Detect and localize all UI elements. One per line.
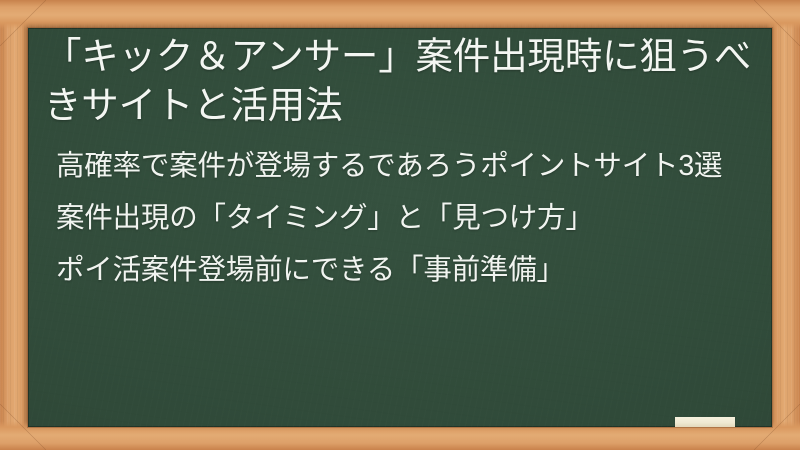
list-item: ポイ活案件登場前にできる「事前準備」 bbox=[56, 251, 754, 289]
chalk-eraser-icon bbox=[675, 417, 735, 427]
list-item: 案件出現の「タイミング」と「見つけ方」 bbox=[56, 199, 754, 237]
heading-list: 高確率で案件が登場するであろうポイントサイト3選 案件出現の「タイミング」と「見… bbox=[44, 147, 754, 289]
chalkboard-eyecatch: 「キック＆アンサー」案件出現時に狙うべきサイトと活用法 高確率で案件が登場するで… bbox=[0, 0, 800, 450]
chalkboard-content: 「キック＆アンサー」案件出現時に狙うべきサイトと活用法 高確率で案件が登場するで… bbox=[28, 28, 772, 427]
page-title: 「キック＆アンサー」案件出現時に狙うべきサイトと活用法 bbox=[44, 32, 754, 130]
chalkboard-surface: 「キック＆アンサー」案件出現時に狙うべきサイトと活用法 高確率で案件が登場するで… bbox=[28, 28, 772, 427]
list-item: 高確率で案件が登場するであろうポイントサイト3選 bbox=[56, 147, 754, 185]
